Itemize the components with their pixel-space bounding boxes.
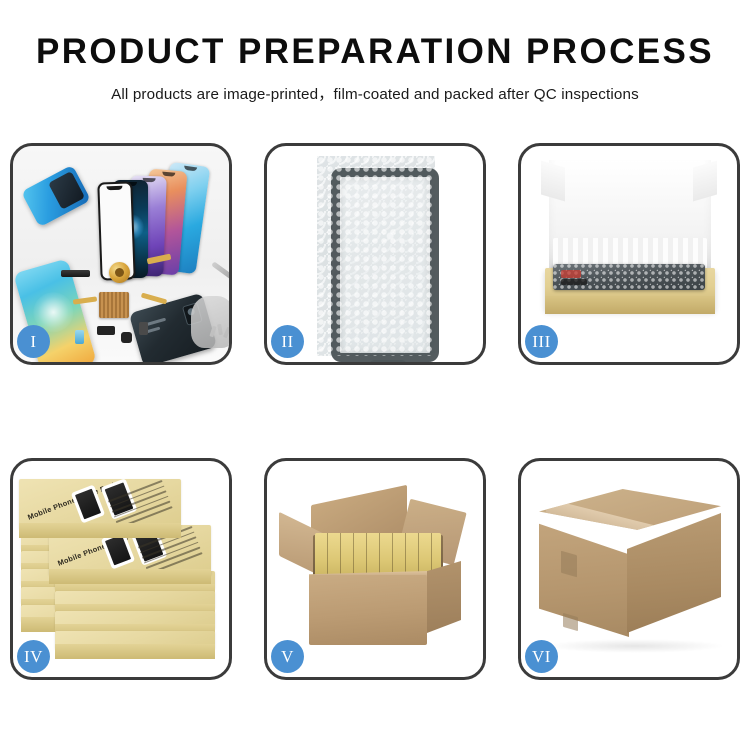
stacked-box — [55, 611, 215, 629]
small-part — [139, 322, 148, 335]
process-step-1[interactable]: I — [10, 143, 232, 365]
process-step-4[interactable]: Mobile Phone Spare Parts — [10, 458, 232, 680]
gold-chip-component — [99, 292, 129, 318]
wireless-coil-component — [109, 262, 130, 283]
step-badge-4: IV — [17, 640, 50, 673]
small-part — [97, 326, 115, 335]
stacked-box — [55, 591, 215, 609]
carton-seam-tab — [561, 551, 577, 578]
printed-lid-top: Mobile Phone Spare Parts — [19, 479, 181, 529]
open-shipping-carton — [291, 499, 459, 649]
red-label — [561, 270, 581, 278]
wrapped-screen-in-box — [553, 264, 705, 290]
step-badge-5: V — [271, 640, 304, 673]
process-step-3[interactable]: III — [518, 143, 740, 365]
process-step-5[interactable]: V — [264, 458, 486, 680]
product-preparation-infographic: PRODUCT PREPARATION PROCESS All products… — [0, 0, 750, 750]
carton-drop-shadow — [545, 639, 725, 653]
carton-left-face — [539, 519, 629, 637]
printed-box-top: Mobile Phone Spare Parts — [19, 479, 181, 529]
small-part — [121, 332, 132, 343]
page-subtitle: All products are image-printed，film-coat… — [0, 82, 750, 104]
bubble-wrap-sheet — [317, 156, 435, 356]
step-badge-6: VI — [525, 640, 558, 673]
carton-seam-tab — [563, 613, 578, 631]
box-lid-left-flap — [541, 161, 565, 202]
process-step-grid: I II — [10, 143, 740, 680]
carton-right-face — [627, 513, 721, 633]
process-step-2[interactable]: II — [264, 143, 486, 365]
box-lid-right-flap — [693, 161, 717, 202]
page-title: PRODUCT PREPARATION PROCESS — [0, 34, 750, 71]
kraft-box-stack: Mobile Phone Spare Parts — [19, 475, 225, 665]
wrapped-phone-screen — [331, 168, 439, 362]
small-part — [75, 330, 84, 344]
sealed-shipping-carton — [539, 489, 721, 655]
hand-silhouette — [191, 296, 229, 348]
carton-front-face — [309, 575, 427, 645]
carton-right-face — [427, 561, 461, 633]
step-badge-2: II — [271, 325, 304, 358]
black-bar-component — [61, 270, 90, 277]
stacked-box — [55, 631, 215, 649]
step-badge-3: III — [525, 325, 558, 358]
header: PRODUCT PREPARATION PROCESS All products… — [0, 0, 750, 104]
black-label — [561, 279, 587, 285]
process-step-6[interactable]: VI — [518, 458, 740, 680]
row-gap-spacer — [10, 365, 740, 458]
kraft-box-front-face — [545, 296, 715, 314]
step-badge-1: I — [17, 325, 50, 358]
